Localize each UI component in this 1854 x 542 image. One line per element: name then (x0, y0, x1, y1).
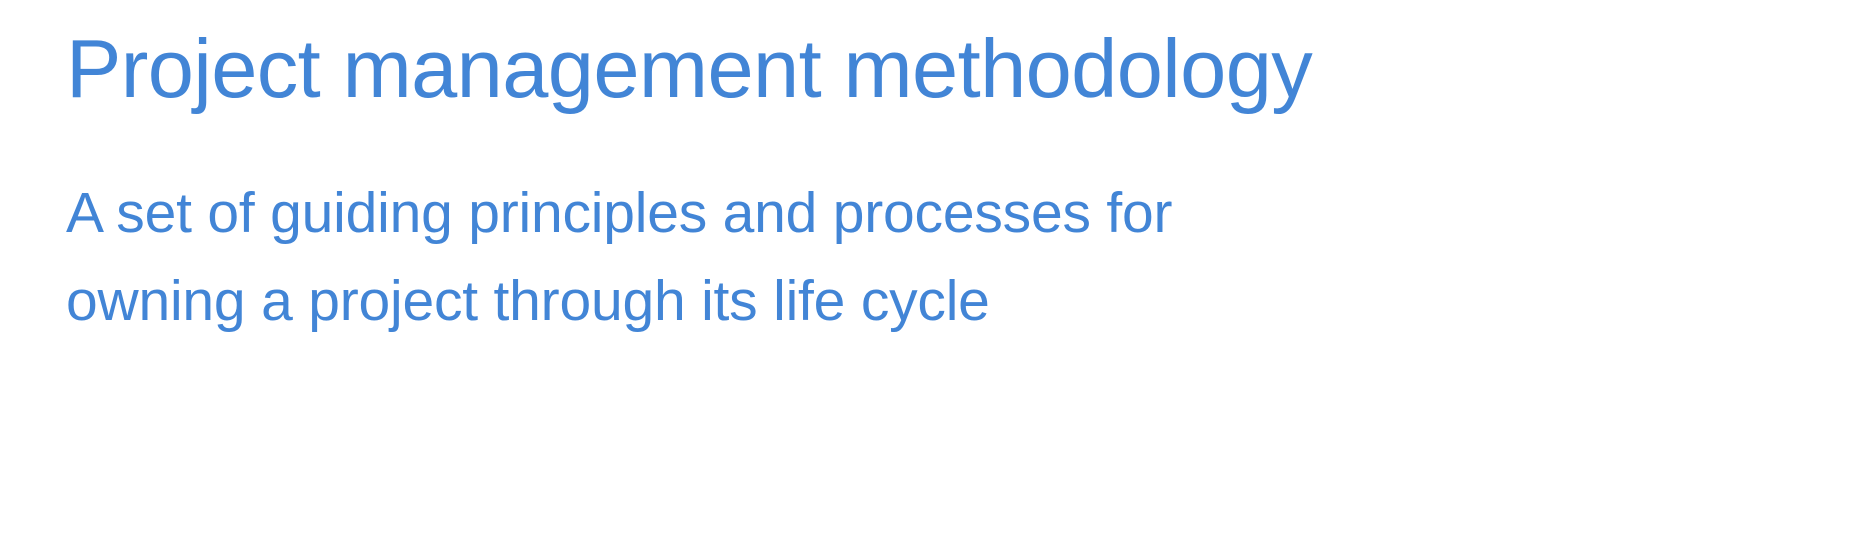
page-subtitle-line-2: owning a project through its life cycle (66, 257, 1366, 345)
text-content-block: Project management methodology A set of … (66, 22, 1826, 345)
page-title: Project management methodology (66, 22, 1826, 117)
page-subtitle: A set of guiding principles and processe… (66, 169, 1366, 345)
slide-canvas: Project management methodology A set of … (0, 0, 1854, 542)
page-subtitle-line-1: A set of guiding principles and processe… (66, 169, 1366, 257)
